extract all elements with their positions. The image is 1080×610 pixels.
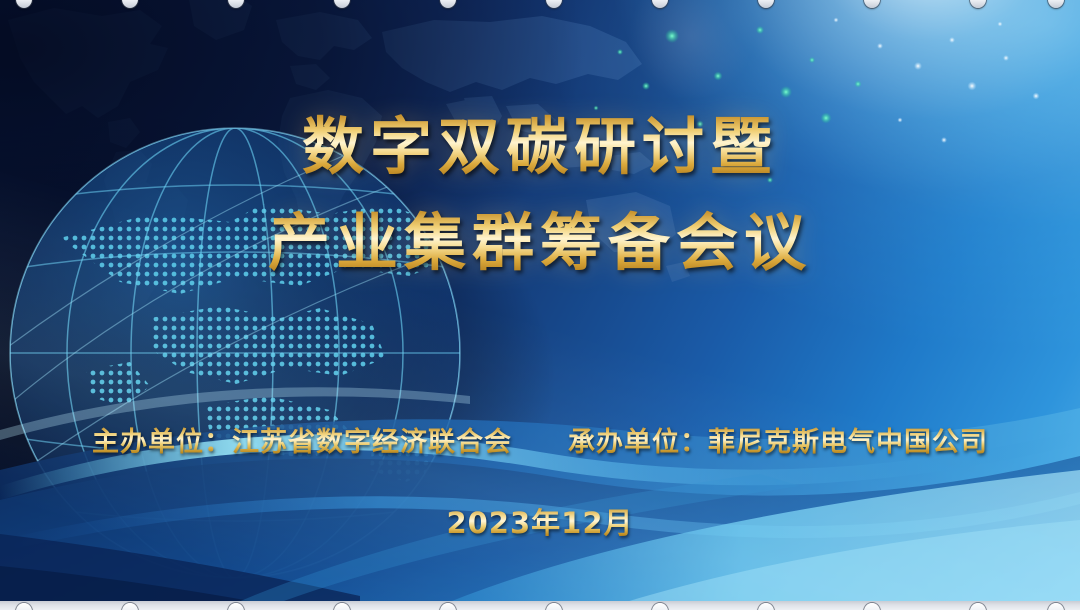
presentation-slide: 数字双碳研讨暨 产业集群筹备会议 主办单位：江苏省数字经济联合会 承办单位：菲尼…	[0, 0, 1080, 610]
host-organizations: 主办单位：江苏省数字经济联合会 承办单位：菲尼克斯电气中国公司	[0, 420, 1080, 459]
organizer-label: 主办单位：江苏省数字经济联合会	[92, 420, 512, 459]
title-line-2: 产业集群筹备会议	[0, 200, 1080, 286]
slide-title: 数字双碳研讨暨 产业集群筹备会议	[0, 104, 1080, 286]
event-date: 2023年12月	[0, 500, 1080, 542]
co-organizer-label: 承办单位：菲尼克斯电气中国公司	[568, 420, 988, 459]
slide-content: 数字双碳研讨暨 产业集群筹备会议 主办单位：江苏省数字经济联合会 承办单位：菲尼…	[0, 0, 1080, 610]
title-line-1: 数字双碳研讨暨	[0, 104, 1080, 190]
